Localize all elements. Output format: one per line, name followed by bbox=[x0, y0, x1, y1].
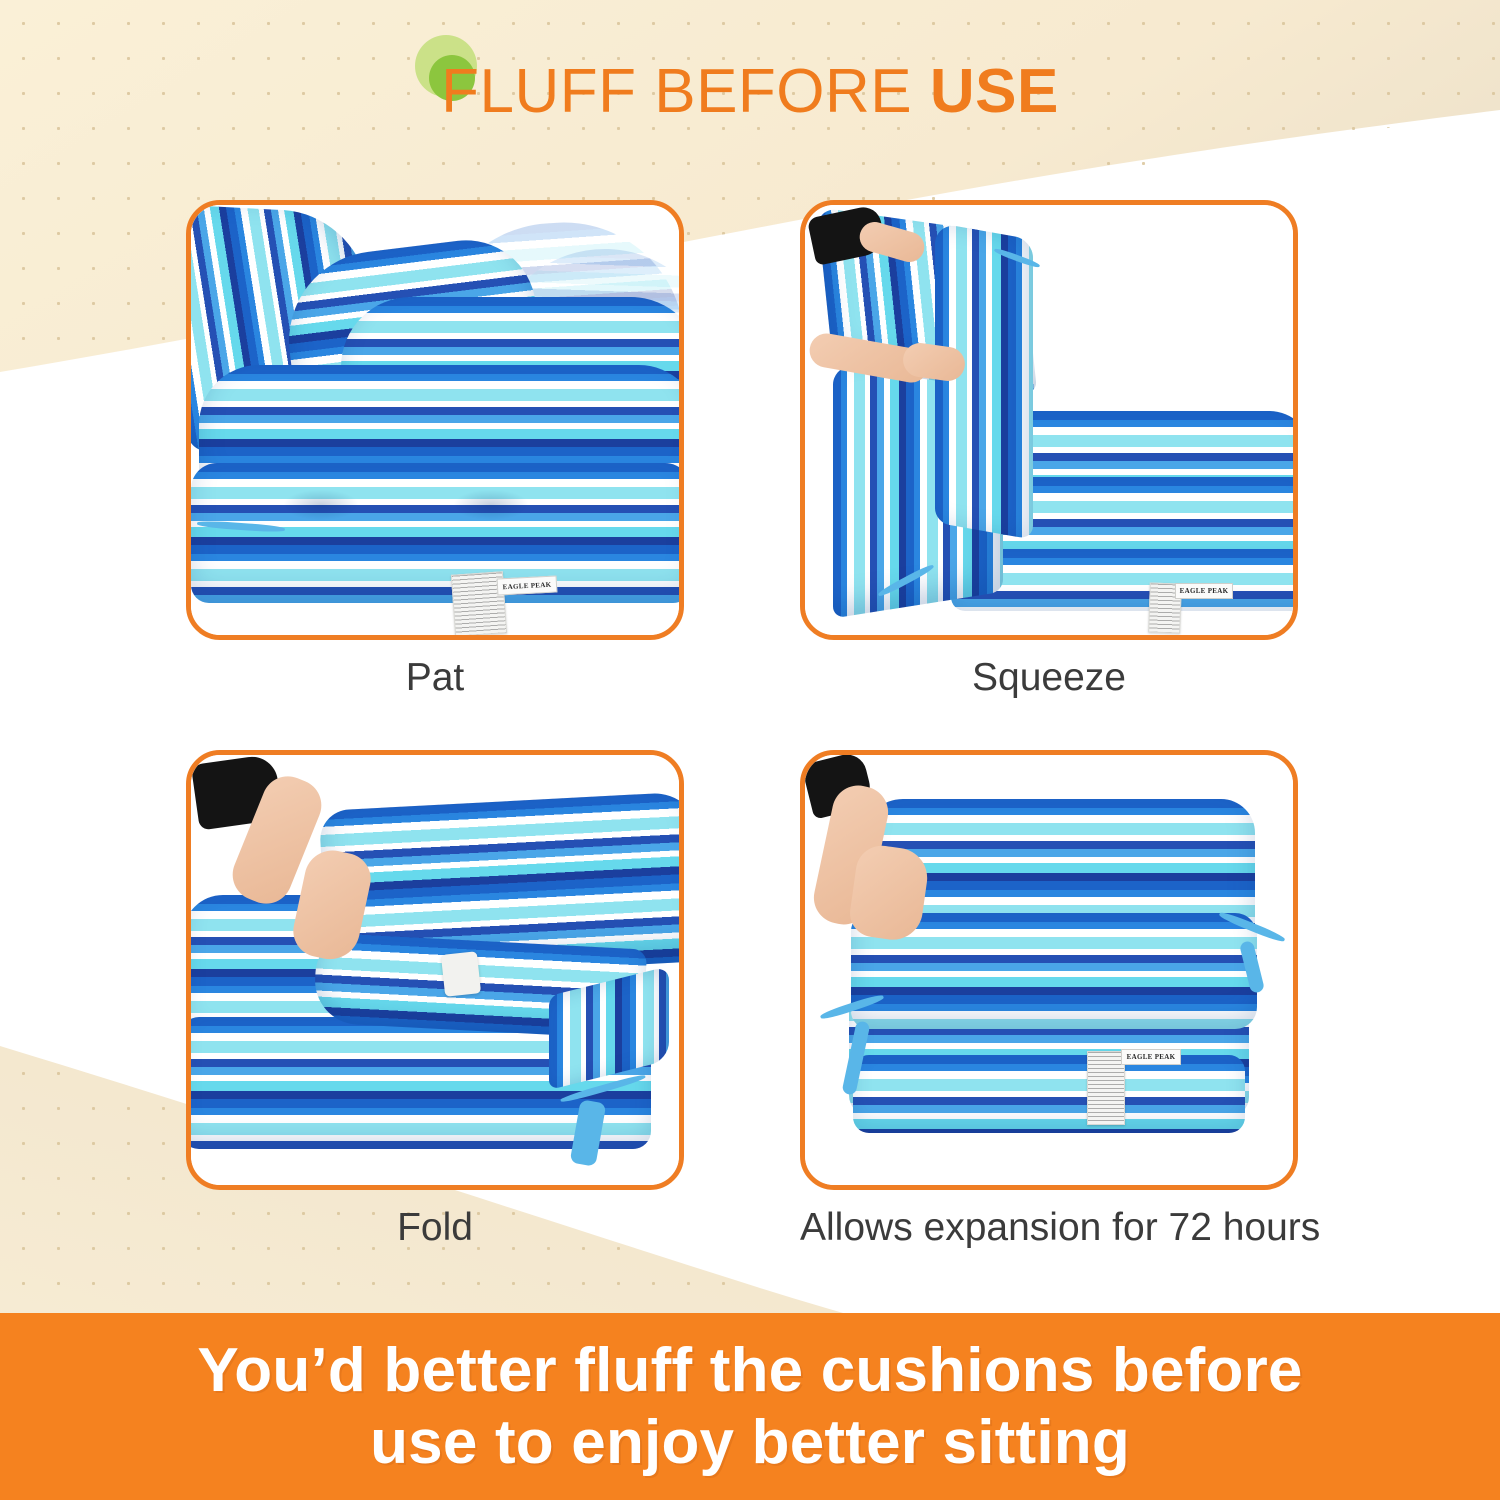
photo-pat: EAGLE PEAK bbox=[191, 205, 679, 635]
caption-pat: Pat bbox=[186, 658, 684, 697]
brand-tag-squeeze: EAGLE PEAK bbox=[1175, 583, 1233, 599]
step-photo-squeeze: EAGLE PEAK bbox=[800, 200, 1298, 640]
bottom-banner: You’d better fluff the cushions before u… bbox=[0, 1313, 1500, 1500]
cushion-folded-face bbox=[935, 222, 1033, 539]
cushion-stack-lower-front bbox=[853, 1055, 1245, 1133]
infographic-canvas: FLUFF BEFORE USE EAGLE PEAK P bbox=[0, 0, 1500, 1500]
photo-fold bbox=[191, 755, 679, 1185]
brand-tag-pat: EAGLE PEAK bbox=[497, 575, 558, 595]
step-photo-fold bbox=[186, 750, 684, 1190]
care-tag-expansion bbox=[1087, 1051, 1125, 1125]
photo-squeeze: EAGLE PEAK bbox=[805, 205, 1293, 635]
step-photo-expansion: EAGLE PEAK bbox=[800, 750, 1298, 1190]
step-photo-pat: EAGLE PEAK bbox=[186, 200, 684, 640]
fabric-loop bbox=[441, 951, 481, 997]
banner-line-1: You’d better fluff the cushions before bbox=[197, 1335, 1302, 1407]
photo-expansion: EAGLE PEAK bbox=[805, 755, 1293, 1185]
cushion-flat-front bbox=[951, 549, 1298, 611]
banner-line-2: use to enjoy better sitting bbox=[197, 1407, 1302, 1479]
brand-tag-expansion: EAGLE PEAK bbox=[1121, 1049, 1181, 1065]
cushion-seat-front bbox=[191, 463, 684, 603]
caption-fold: Fold bbox=[186, 1208, 684, 1247]
caption-expansion: Allows expansion for 72 hours bbox=[800, 1208, 1298, 1247]
caption-squeeze: Squeeze bbox=[800, 658, 1298, 697]
banner-text: You’d better fluff the cushions before u… bbox=[197, 1335, 1302, 1479]
